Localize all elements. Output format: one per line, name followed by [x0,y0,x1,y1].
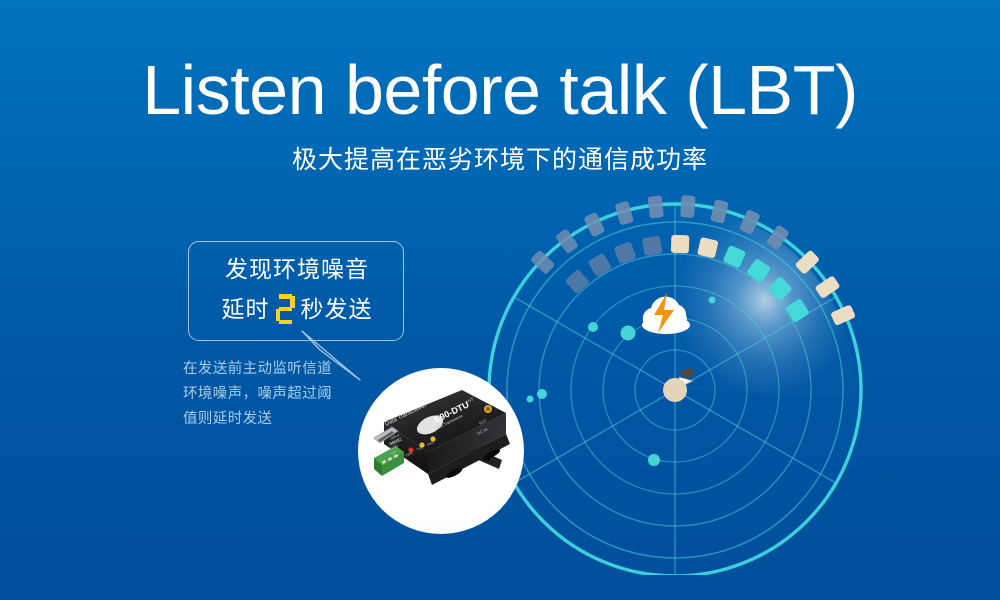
callout-line-1: 发现环境噪音 [189,253,405,285]
callout-box: 发现环境噪音 延时 秒发送 [188,241,404,341]
description-line-3: 值则延时发送 [183,407,363,432]
page-title: Listen before talk (LBT) [0,48,1000,132]
radar-graphic [480,185,870,575]
radar-sweep-sector [675,204,854,397]
description-text: 在发送前主动监听信道 环境噪声，噪声超过阈 值则延时发送 [183,357,363,432]
device-terminal-block [374,446,404,476]
callout-line-2: 延时 秒发送 [189,292,405,326]
seven-segment-digit [276,294,295,324]
lbt-product-banner: Listen before talk (LBT) 极大提高在恶劣环境下的通信成功… [0,0,1000,600]
callout-delay-prefix: 延时 [222,292,270,326]
callout-delay-suffix: 秒发送 [301,292,373,326]
description-line-2: 环境噪声，噪声超过阈 [183,382,363,407]
page-subtitle: 极大提高在恶劣环境下的通信成功率 [0,143,1000,177]
description-line-1: 在发送前主动监听信道 [183,357,363,382]
product-photo-e90-dtu: E90-DTU Data Transceiver Data Transceive… [358,368,524,534]
